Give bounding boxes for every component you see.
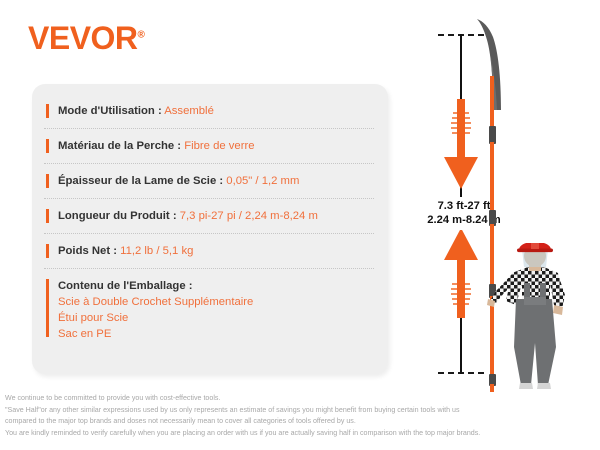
helmet-ridge [531,243,539,249]
package-contents-label: Contenu de l'Emballage : [58,280,193,292]
disclaimer-line: You are kindly reminded to verify carefu… [5,428,597,440]
accent-bar-icon [46,104,49,118]
spec-value: 0,05" / 1,2 mm [226,175,299,187]
disclaimer-text: We continue to be committed to provide y… [5,393,597,439]
pole-segment [490,142,494,212]
disclaimer-line: We continue to be committed to provide y… [5,393,597,405]
package-item: Étui pour Scie [58,310,374,326]
worker-bib [524,297,546,305]
spec-row: Matériau de la Perche : Fibre de verre [44,128,374,163]
vevor-logo: VEVOR® [28,22,145,54]
spec-row: Mode d'Utilisation : Assemblé [44,94,374,128]
spec-label: Longueur du Produit : [58,210,177,222]
worker-figure [486,243,582,389]
disclaimer-line: "Save Half"or any other similar expressi… [5,405,597,417]
worker-overalls [514,299,556,385]
spec-value: 7,3 pi-27 pi / 2,24 m-8,24 m [180,210,318,222]
brand-name: VEVOR [28,20,138,56]
spec-row: Épaisseur de la Lame de Scie : 0,05" / 1… [44,163,374,198]
package-item: Scie à Double Crochet Supplémentaire [58,294,374,310]
spec-row: Poids Net : 11,2 lb / 5,1 kg [44,233,374,268]
spec-value: 11,2 lb / 5,1 kg [120,245,193,257]
spec-value: Assemblé [164,105,214,117]
disclaimer-line: compared to the major top brands and dos… [5,416,597,428]
package-item: Sac en PE [58,326,374,342]
spec-label: Matériau de la Perche : [58,140,181,152]
helmet-brim [517,249,553,253]
accent-bar-icon [46,279,49,337]
pole-segment [490,76,494,128]
package-contents-row: Contenu de l'Emballage : Scie à Double C… [44,268,374,353]
worker-shoe-left [519,383,533,389]
spec-label: Mode d'Utilisation : [58,105,162,117]
spec-label: Poids Net : [58,245,117,257]
spec-label: Épaisseur de la Lame de Scie : [58,175,223,187]
spec-row: Longueur du Produit : 7,3 pi-27 pi / 2,2… [44,198,374,233]
worker-shoe-right [537,383,551,389]
accent-bar-icon [46,209,49,223]
trademark-icon: ® [138,29,145,40]
spec-value: Fibre de verre [184,140,254,152]
specification-card: Mode d'Utilisation : Assemblé Matériau d… [32,84,388,374]
accent-bar-icon [46,174,49,188]
accent-bar-icon [46,244,49,258]
accent-bar-icon [46,139,49,153]
